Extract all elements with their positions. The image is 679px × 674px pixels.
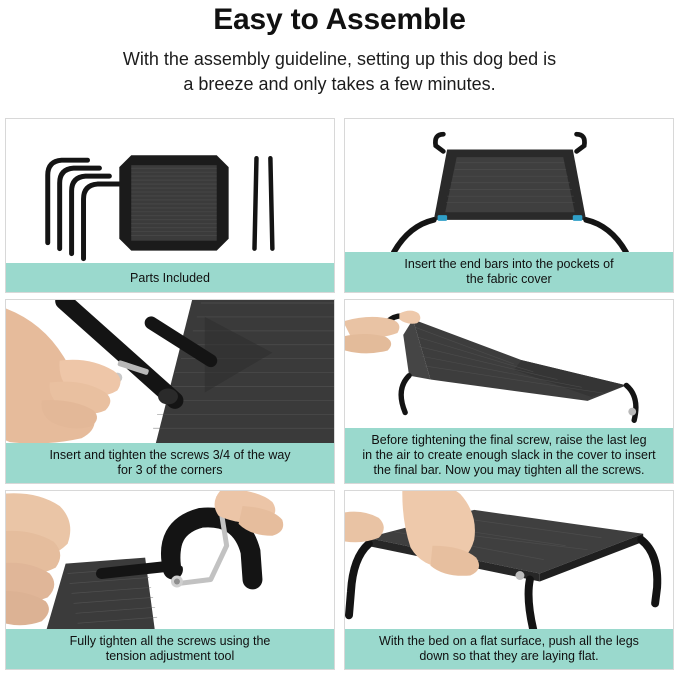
page-subtitle-line-2: a breeze and only takes a few minutes.	[0, 72, 679, 97]
step-panel-insert-end-bars: Insert the end bars into the pockets of …	[344, 118, 674, 293]
caption-line-2: down so that they are laying flat.	[419, 649, 598, 663]
caption-raise-last-leg: Before tightening the final screw, raise…	[345, 428, 673, 483]
caption-line-1: Insert and tighten the screws 3/4 of the…	[49, 448, 290, 462]
caption-line-1: With the bed on a flat surface, push all…	[379, 634, 639, 648]
caption-line-2: in the air to create enough slack in the…	[362, 448, 655, 462]
caption-push-legs-down-flat: With the bed on a flat surface, push all…	[345, 629, 673, 669]
raise-last-leg-art	[345, 300, 673, 428]
step-panel-parts-included: Parts Included	[5, 118, 335, 293]
caption-line-2: the fabric cover	[466, 272, 551, 286]
caption-line-3: the final bar. Now you may tighten all t…	[374, 463, 645, 477]
illustration-fully-tighten-screws	[6, 491, 334, 629]
caption-parts-included: Parts Included	[6, 263, 334, 292]
fully-tighten-screws-art	[6, 491, 334, 629]
caption-line-1: Fully tighten all the screws using the	[70, 634, 271, 648]
assembly-instructions-page: Easy to Assemble With the assembly guide…	[0, 0, 679, 674]
illustration-parts-included	[6, 119, 334, 263]
step-panel-raise-last-leg: Before tightening the final screw, raise…	[344, 299, 674, 484]
caption-line-2: tension adjustment tool	[106, 649, 235, 663]
illustration-insert-end-bars	[345, 119, 673, 252]
caption-fully-tighten-screws: Fully tighten all the screws using the t…	[6, 629, 334, 669]
caption-line-1: Before tightening the final screw, raise…	[371, 433, 646, 447]
page-header: Easy to Assemble With the assembly guide…	[0, 0, 679, 97]
tighten-screws-art	[6, 300, 334, 443]
step-panel-fully-tighten-screws: Fully tighten all the screws using the t…	[5, 490, 335, 670]
caption-line: Parts Included	[130, 271, 210, 285]
caption-tighten-screws-three-corners: Insert and tighten the screws 3/4 of the…	[6, 443, 334, 483]
page-subtitle-line-1: With the assembly guideline, setting up …	[0, 47, 679, 72]
steps-grid: Parts Included	[5, 118, 674, 670]
page-subtitle: With the assembly guideline, setting up …	[0, 47, 679, 97]
step-panel-push-legs-down-flat: With the bed on a flat surface, push all…	[344, 490, 674, 670]
illustration-raise-last-leg	[345, 300, 673, 428]
push-legs-down-flat-art	[345, 491, 673, 629]
page-title: Easy to Assemble	[0, 2, 679, 38]
insert-end-bars-art	[345, 119, 673, 252]
caption-line-2: for 3 of the corners	[118, 463, 223, 477]
step-panel-tighten-screws-three-corners: Insert and tighten the screws 3/4 of the…	[5, 299, 335, 484]
illustration-push-legs-down-flat	[345, 491, 673, 629]
illustration-tighten-screws-three-corners	[6, 300, 334, 443]
parts-included-art	[6, 119, 334, 263]
caption-insert-end-bars: Insert the end bars into the pockets of …	[345, 252, 673, 292]
caption-line-1: Insert the end bars into the pockets of	[404, 257, 613, 271]
